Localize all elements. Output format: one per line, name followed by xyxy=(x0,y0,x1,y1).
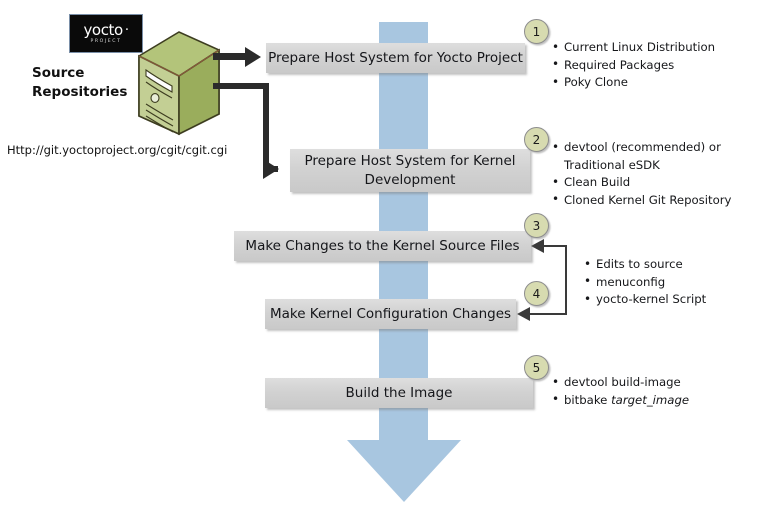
note-item: Clean Build xyxy=(551,174,766,192)
note-item: Current Linux Distribution xyxy=(551,39,766,57)
note-item: menuconfig xyxy=(583,274,763,292)
bracket-arrowhead-to-box4 xyxy=(517,307,530,321)
process-box-make-kernel-source-changes[interactable]: Make Changes to the Kernel Source Files xyxy=(234,231,531,261)
connector-arrowhead-to-box1 xyxy=(245,47,261,67)
connector-line-to-box2-horizontal-top xyxy=(213,83,269,89)
process-box-build-image[interactable]: Build the Image xyxy=(265,378,533,408)
process-box-label: Make Kernel Configuration Changes xyxy=(270,305,511,324)
note-item: Edits to source xyxy=(583,256,763,274)
yocto-project-logo: yocto· PROJECT xyxy=(69,14,143,53)
process-box-prepare-host-yocto[interactable]: Prepare Host System for Yocto Project xyxy=(266,43,525,73)
process-box-label: Prepare Host System for Yocto Project xyxy=(268,49,523,68)
note-item: Required Packages xyxy=(551,57,766,75)
step-badge-1: 1 xyxy=(524,19,549,44)
process-box-make-kernel-config-changes[interactable]: Make Kernel Configuration Changes xyxy=(265,299,516,329)
logo-word-text: yocto xyxy=(83,21,122,39)
process-box-label: Make Changes to the Kernel Source Files xyxy=(245,237,519,256)
source-repositories-url: Http://git.yoctoproject.org/cgit/cgit.cg… xyxy=(7,143,227,157)
note-item: devtool build-image xyxy=(551,374,766,392)
note-item: Cloned Kernel Git Repository xyxy=(551,192,766,210)
server-tower-icon xyxy=(133,26,225,138)
process-box-prepare-host-kernel[interactable]: Prepare Host System for Kernel Developme… xyxy=(290,149,530,192)
bracket-vertical-line xyxy=(565,245,567,315)
connector-arrowhead-to-box2 xyxy=(263,159,279,179)
bracket-line-to-box4 xyxy=(527,313,566,315)
notes-list-step1: Current Linux DistributionRequired Packa… xyxy=(551,39,766,92)
step-badge-3: 3 xyxy=(524,213,549,238)
note-item: Poky Clone xyxy=(551,74,766,92)
bracket-arrowhead-to-box3 xyxy=(531,239,544,253)
note-item: bitbake target_image xyxy=(551,392,766,410)
diagram-canvas: yocto· PROJECT Source Repositories Http:… xyxy=(0,0,769,517)
note-item-emphasis: target_image xyxy=(611,393,689,407)
note-item: devtool (recommended) or Traditional eSD… xyxy=(551,139,766,174)
notes-list-step3-4: Edits to sourcemenuconfigyocto-kernel Sc… xyxy=(583,256,763,309)
flow-arrow-head xyxy=(347,440,461,502)
notes-list-step2: devtool (recommended) or Traditional eSD… xyxy=(551,139,766,209)
logo-dot: · xyxy=(123,23,129,38)
logo-subtext: PROJECT xyxy=(90,40,121,45)
logo-wordmark: yocto· xyxy=(83,23,128,38)
bracket-line-to-box3 xyxy=(541,245,566,247)
step-badge-5: 5 xyxy=(524,355,549,380)
process-box-label: Build the Image xyxy=(346,384,453,403)
notes-list-step5: devtool build-imagebitbake target_image xyxy=(551,374,766,409)
step-badge-4: 4 xyxy=(524,281,549,306)
step-badge-2: 2 xyxy=(524,127,549,152)
note-item: yocto-kernel Script xyxy=(583,291,763,309)
process-box-label: Prepare Host System for Kernel Developme… xyxy=(304,152,515,190)
